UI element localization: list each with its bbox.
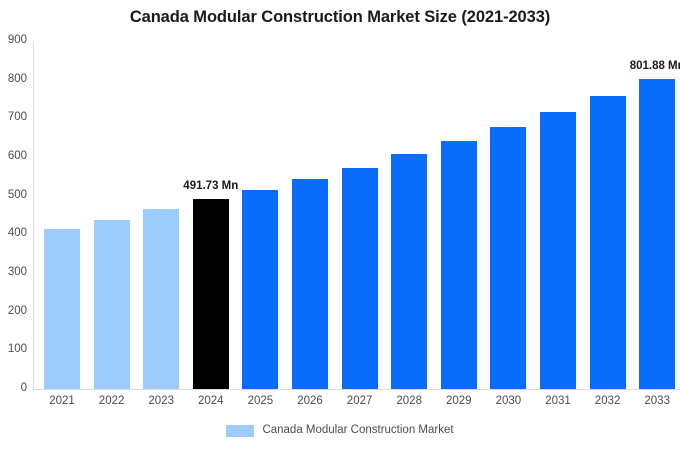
legend-swatch-icon [226,425,254,437]
y-axis-tick-label: 700 [0,112,27,124]
legend-label: Canada Modular Construction Market [262,425,453,437]
y-axis-tick-label: 100 [0,344,27,356]
chart-container: Canada Modular Construction Market Size … [0,0,680,450]
y-axis-tick-label: 800 [0,74,27,86]
bar-value-label: 491.73 Mn [181,181,241,193]
y-axis-tick-label: 600 [0,151,27,163]
x-axis-tick-label: 2033 [627,396,680,408]
bar-value-label: 801.88 Mn [627,61,680,73]
y-axis-tick-label: 900 [0,35,27,47]
y-axis-tick-label: 400 [0,228,27,240]
y-axis-tick-label: 500 [0,190,27,202]
y-axis-tick-label: 0 [0,383,27,395]
chart-legend: Canada Modular Construction Market [0,425,680,437]
x-axis-tick-labels: 2021202220232024202520262027202820292030… [33,0,680,450]
y-axis-tick-label: 300 [0,267,27,279]
y-axis-tick-label: 200 [0,306,27,318]
